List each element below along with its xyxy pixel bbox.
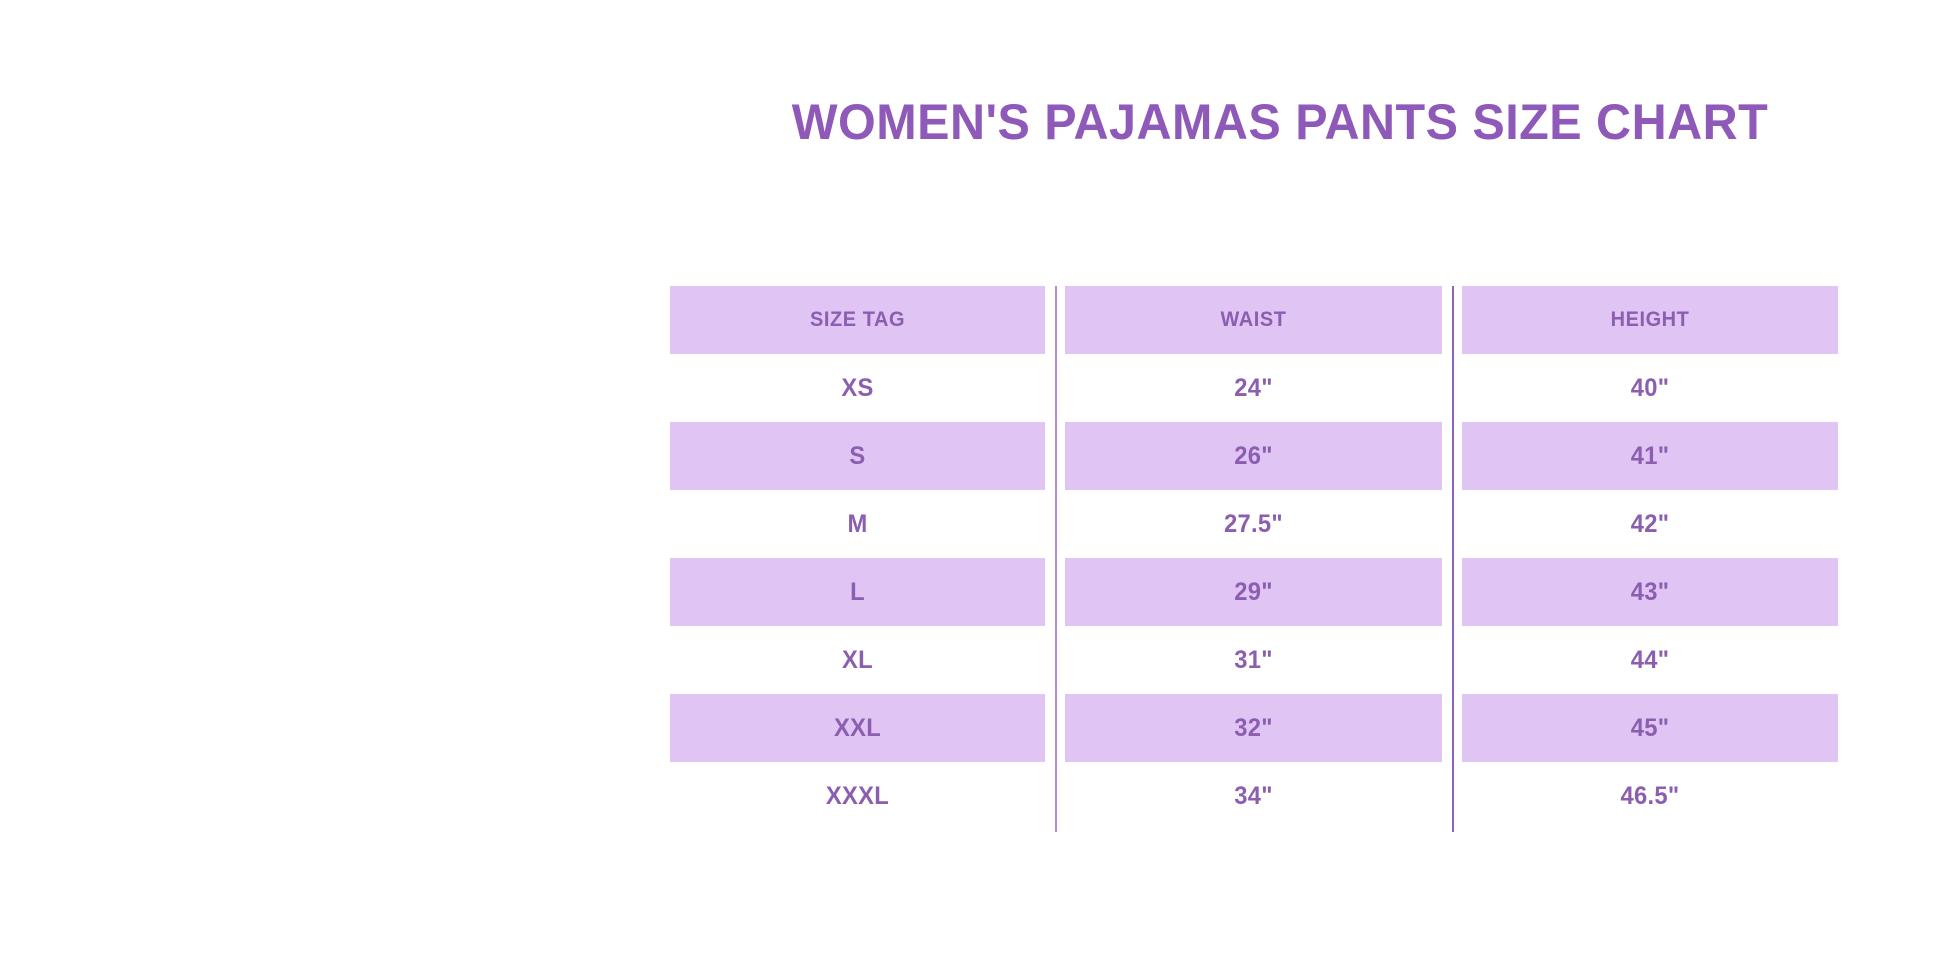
cell-height: 43" <box>1462 558 1838 626</box>
table-row: M 27.5" 42" <box>660 490 1848 558</box>
table-row: XXL 32" 45" <box>660 694 1848 762</box>
cell-size-tag: XL <box>670 626 1045 694</box>
cell-height: 42" <box>1462 490 1838 558</box>
table-row: S 26" 41" <box>660 422 1848 490</box>
cell-waist: 31" <box>1065 626 1442 694</box>
table-row: XL 31" 44" <box>660 626 1848 694</box>
cell-size-tag: XXL <box>670 694 1045 762</box>
cell-waist: 27.5" <box>1065 490 1442 558</box>
cell-waist: 24" <box>1065 354 1442 422</box>
size-chart-table: SIZE TAG WAIST HEIGHT XS 24" 40" S 26" 4… <box>660 286 1848 830</box>
cell-size-tag: XS <box>670 354 1045 422</box>
cell-size-tag: XXXL <box>670 762 1045 830</box>
cell-waist: 34" <box>1065 762 1442 830</box>
table-row: L 29" 43" <box>660 558 1848 626</box>
cell-waist: 29" <box>1065 558 1442 626</box>
cell-height: 41" <box>1462 422 1838 490</box>
table-row: XXXL 34" 46.5" <box>660 762 1848 830</box>
cell-size-tag: M <box>670 490 1045 558</box>
cell-height: 44" <box>1462 626 1838 694</box>
page-title: WOMEN'S PAJAMAS PANTS SIZE CHART <box>679 95 1882 150</box>
cell-height: 45" <box>1462 694 1838 762</box>
cell-waist: 32" <box>1065 694 1442 762</box>
cell-height: 46.5" <box>1462 762 1838 830</box>
column-header-height: HEIGHT <box>1462 286 1838 354</box>
column-header-size-tag: SIZE TAG <box>670 286 1045 354</box>
table-header: SIZE TAG WAIST HEIGHT <box>660 286 1848 354</box>
table-body: XS 24" 40" S 26" 41" M 27.5" 42" L 29" <box>660 354 1848 830</box>
cell-waist: 26" <box>1065 422 1442 490</box>
cell-size-tag: L <box>670 558 1045 626</box>
table-row: XS 24" 40" <box>660 354 1848 422</box>
cell-size-tag: S <box>670 422 1045 490</box>
column-header-waist: WAIST <box>1065 286 1442 354</box>
cell-height: 40" <box>1462 354 1838 422</box>
size-chart-table-container: SIZE TAG WAIST HEIGHT XS 24" 40" S 26" 4… <box>660 286 1848 830</box>
table-header-row: SIZE TAG WAIST HEIGHT <box>660 286 1848 354</box>
size-chart-page: WOMEN'S PAJAMAS PANTS SIZE CHART SIZE TA… <box>0 0 1946 973</box>
